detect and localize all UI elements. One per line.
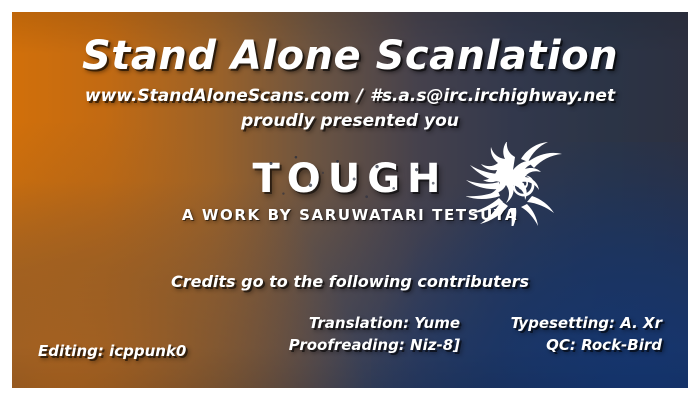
credits-column-editing: Editing: icppunk0 xyxy=(38,340,186,362)
group-title: Stand Alone Scanlation xyxy=(0,33,700,79)
group-website: www.StandAloneScans.com xyxy=(85,86,350,106)
credits-heading: Credits go to the following contributers xyxy=(0,272,700,291)
credits-columns: Editing: icppunk0 Translation: Yume Proo… xyxy=(20,312,680,372)
credits-column-translation: Translation: Yume Proofreading: Niz-8] xyxy=(220,312,460,356)
group-irc-channel: #s.a.s@irc.irchighway.net xyxy=(370,86,615,106)
page-content: Stand Alone Scanlation www.StandAloneSca… xyxy=(0,0,700,400)
credit-line-qc: QC: Rock-Bird xyxy=(440,334,662,356)
manga-title: TOUGH xyxy=(252,158,447,200)
group-tagline: proudly presented you xyxy=(0,111,700,131)
manga-author-line: A WORK BY SARUWATARI TETSUYA xyxy=(0,206,700,224)
scanlation-credit-page: Stand Alone Scanlation www.StandAloneSca… xyxy=(0,0,700,400)
credit-line-translation: Translation: Yume xyxy=(220,312,460,334)
credits-column-typesetting: Typesetting: A. Xr QC: Rock-Bird xyxy=(440,312,662,356)
credit-line-typesetting: Typesetting: A. Xr xyxy=(440,312,662,334)
manga-title-block: TOUGH A WORK BY SARUWATARI TETSUYA xyxy=(0,158,700,224)
group-contact-line: www.StandAloneScans.com/#s.a.s@irc.irchi… xyxy=(0,86,700,106)
credit-line-proofreading: Proofreading: Niz-8] xyxy=(220,334,460,356)
contact-separator: / xyxy=(350,86,370,106)
tribal-wing-icon xyxy=(466,142,566,226)
credit-line-editing: Editing: icppunk0 xyxy=(38,340,186,362)
